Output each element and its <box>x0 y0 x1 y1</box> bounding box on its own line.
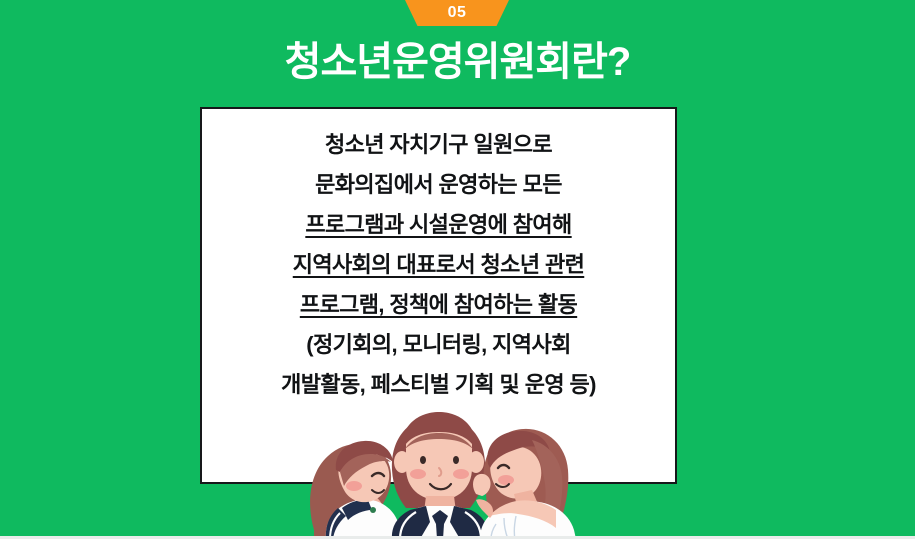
card-line: 지역사회의 대표로서 청소년 관련 <box>202 245 675 285</box>
card-line: (정기회의, 모니터링, 지역사회 <box>202 325 675 365</box>
page-title: 청소년운영위원회란? <box>0 38 915 86</box>
left-girl-cheek <box>346 481 362 491</box>
center-girl-eye-left <box>420 456 426 464</box>
tab-number-label: 05 <box>405 0 509 26</box>
right-girl-cheek <box>498 475 514 485</box>
content-card-body: 청소년 자치기구 일원으로 문화의집에서 운영하는 모든 프로그램과 시설운영에… <box>202 125 675 405</box>
card-line: 문화의집에서 운영하는 모든 <box>202 165 675 205</box>
slide-root: 05 청소년운영위원회란? 청소년 자치기구 일원으로 문화의집에서 운영하는 … <box>0 0 915 539</box>
card-line: 프로그램, 정책에 참여하는 활동 <box>202 285 675 325</box>
card-line: 청소년 자치기구 일원으로 <box>202 125 675 165</box>
section-number-tab: 05 <box>405 0 509 26</box>
card-line: 프로그램과 시설운영에 참여해 <box>202 205 675 245</box>
three-students-illustration <box>280 398 610 539</box>
center-girl-cheek-right <box>453 469 469 479</box>
center-girl-cheek-left <box>410 469 426 479</box>
left-girl-collar-pin <box>370 507 376 513</box>
center-girl-eye-right <box>453 456 459 464</box>
